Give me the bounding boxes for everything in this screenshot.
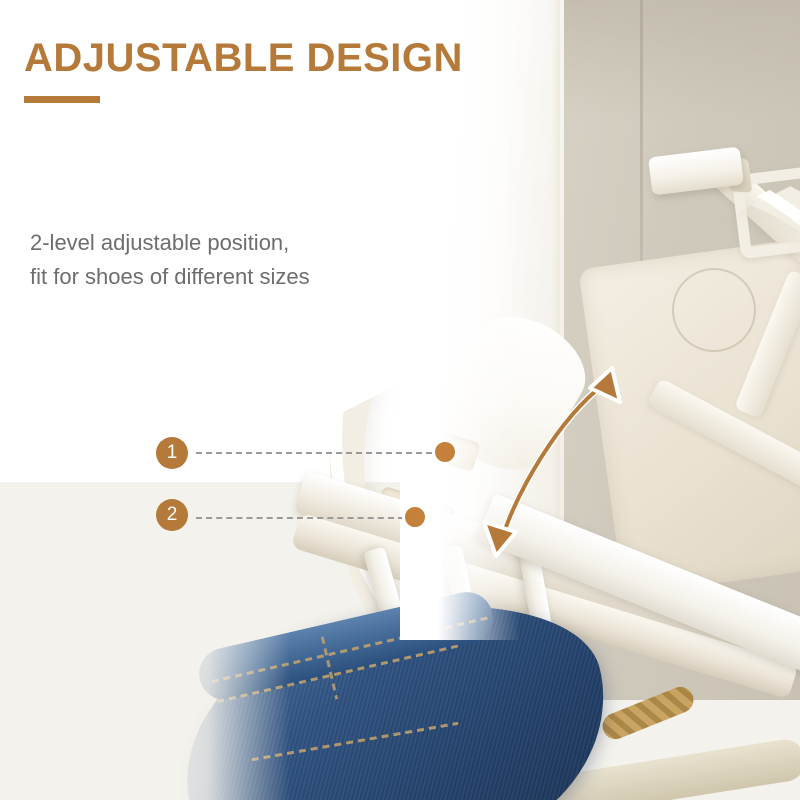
callout-badge-1: 1 [156, 437, 188, 469]
callout-badge-2: 2 [156, 499, 188, 531]
title-accent-rule [24, 96, 100, 103]
callout-leader-2 [196, 517, 404, 519]
subtitle-line-2: fit for shoes of different sizes [30, 260, 310, 294]
subtitle-text: 2-level adjustable position, fit for sho… [30, 226, 310, 294]
arrow-head-down [484, 522, 516, 556]
product-feature-banner: ADJUSTABLE DESIGN 2-level adjustable pos… [0, 0, 800, 800]
photo-wall-shadow [556, 0, 800, 120]
subtitle-line-1: 2-level adjustable position, [30, 226, 310, 260]
arrow-head-up [590, 368, 620, 402]
product-photo [0, 0, 800, 800]
callout-dot-2 [402, 504, 428, 530]
adjust-direction-arrow [440, 340, 670, 580]
callout-leader-1 [196, 452, 432, 454]
photo-left-fade [140, 560, 290, 800]
page-title: ADJUSTABLE DESIGN [24, 36, 463, 81]
